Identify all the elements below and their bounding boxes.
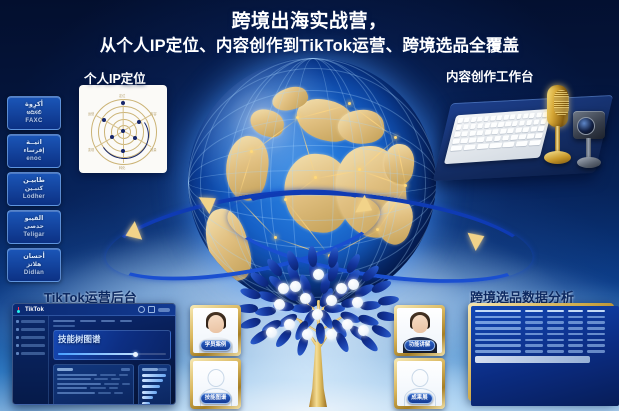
- table-cell-name: [475, 333, 521, 335]
- keyboard-key[interactable]: [512, 121, 519, 127]
- table-cell-sales: [547, 350, 564, 352]
- tree-blossom: [326, 295, 337, 306]
- avatar-card-skill-map[interactable]: 技能图谱: [190, 358, 241, 409]
- dashboard-tab[interactable]: [53, 320, 75, 322]
- section-title-ip-positioning: 个人IP定位: [84, 68, 146, 87]
- tree-blossom: [352, 297, 363, 308]
- table-cell-growth: [568, 316, 583, 318]
- radar-axis-label: 运营: [88, 111, 94, 116]
- keyboard-key[interactable]: [463, 144, 476, 150]
- table-column-header: [568, 310, 583, 312]
- hero-title: 技能树图谱: [58, 334, 166, 344]
- keyboard-key[interactable]: [530, 126, 537, 132]
- tree-blossom: [313, 269, 324, 280]
- sidebar-item-label: [21, 352, 45, 355]
- keyboard-key[interactable]: [461, 131, 468, 137]
- camera-body: [573, 111, 605, 139]
- table-row: [57, 374, 130, 376]
- bar-chart-bar: [142, 385, 160, 388]
- keyboard-key[interactable]: [522, 127, 529, 133]
- keyboard-key[interactable]: [464, 117, 470, 123]
- content-studio-scene: [443, 85, 619, 193]
- keyboard-key[interactable]: [529, 113, 535, 119]
- keyboard-key[interactable]: [507, 128, 514, 134]
- section-title-content-studio: 内容创作工作台: [446, 66, 534, 85]
- table-cell-margin: [587, 321, 605, 323]
- tree-trunk: [309, 342, 327, 407]
- keyboard-key[interactable]: [502, 135, 510, 141]
- keyboard-key[interactable]: [460, 138, 468, 144]
- poster-canvas: 跨境出海实战营， 从个人IP定位、内容创作到TikTok运营、跨境选品全覆盖 个…: [0, 0, 619, 411]
- card-header: [57, 368, 130, 370]
- table-cell-cat: [525, 333, 543, 335]
- keyboard-key[interactable]: [527, 133, 535, 139]
- table-column-header: [525, 310, 543, 312]
- table-cell-cat: [525, 339, 543, 341]
- language-badge[interactable]: أحسانهلاتزDidlan: [7, 248, 61, 282]
- dashboard-tab[interactable]: [120, 320, 132, 322]
- sidebar-item-icon: [16, 320, 19, 323]
- table-cell-margin: [587, 333, 605, 335]
- card-action-placeholder[interactable]: [158, 368, 167, 370]
- data-analysis-panel[interactable]: [468, 303, 614, 401]
- mic-body: [547, 85, 568, 127]
- table-cell-sales: [547, 344, 564, 346]
- badge-line-2: هلاتز: [27, 261, 42, 269]
- table-cell: [57, 392, 95, 394]
- table-row: [57, 392, 130, 394]
- keyboard-key[interactable]: [470, 124, 477, 130]
- badge-line-2: حدصى: [24, 223, 44, 231]
- table-row: [57, 383, 130, 385]
- keyboard-key[interactable]: [489, 142, 502, 148]
- sidebar-item-label: [21, 344, 45, 347]
- table-cell-growth: [568, 350, 583, 352]
- language-badge[interactable]: اثيــةإفرساءenoc: [7, 134, 61, 168]
- table-column-header: [547, 310, 564, 312]
- mic-grill: [554, 90, 569, 116]
- avatar: 成果展: [397, 361, 442, 406]
- table-cell-growth: [568, 327, 583, 329]
- sidebar-item-label: [21, 336, 45, 339]
- radar-axis-label: 内容: [150, 111, 156, 116]
- tree-blossom: [348, 279, 359, 290]
- table-cell-name: [475, 344, 521, 346]
- table-cell-cat: [525, 327, 543, 329]
- sidebar-item[interactable]: [16, 336, 45, 339]
- bar-chart-bar: [142, 396, 153, 399]
- badge-line-2: إفرساء: [24, 147, 45, 155]
- keyboard-key[interactable]: [469, 130, 476, 136]
- dashboard-tab[interactable]: [101, 320, 115, 322]
- progress-bar[interactable]: [58, 353, 166, 355]
- sidebar-item-label: [21, 320, 45, 323]
- tree-leaf: [274, 327, 294, 349]
- breadcrumb: [53, 325, 75, 327]
- camera-base: [577, 157, 601, 168]
- table-cell: [94, 378, 108, 380]
- table-cell: [119, 374, 128, 376]
- avatar-card-label: 技能图谱: [200, 393, 232, 404]
- dashboard-cards: [53, 364, 171, 405]
- bar-chart-bar: [142, 402, 150, 405]
- keyboard-key[interactable]: [491, 122, 498, 128]
- keyboard-key[interactable]: [476, 143, 489, 149]
- table-cell-growth: [568, 344, 583, 346]
- language-badge-strip: أكرِوةಅದಿಸಲಿFAXCاثيــةإفرساءenocطابيـنكت…: [7, 96, 61, 286]
- table-row[interactable]: [475, 316, 615, 318]
- keyboard-key[interactable]: [477, 130, 484, 136]
- avatar-silhouette-head: [411, 369, 428, 387]
- keyboard-key[interactable]: [519, 120, 526, 126]
- keyboard-key[interactable]: [505, 121, 512, 127]
- avatar-silhouette-head: [207, 369, 224, 387]
- table-row[interactable]: [475, 350, 615, 352]
- keyboard-key[interactable]: [516, 114, 522, 120]
- music-note-icon: [18, 307, 23, 312]
- avatar: 技能图谱: [193, 361, 238, 406]
- data-table: [471, 306, 619, 406]
- keyboard-key[interactable]: [498, 122, 505, 128]
- keyboard-key[interactable]: [515, 140, 528, 146]
- keyboard-key[interactable]: [510, 134, 518, 140]
- keyboard-key[interactable]: [523, 113, 529, 119]
- table-cell: [111, 378, 120, 380]
- keyboard-key[interactable]: [493, 135, 501, 141]
- tiktok-dashboard-panel[interactable]: TikTok 技能树图谱: [12, 303, 176, 405]
- table-cell-growth: [568, 333, 583, 335]
- avatar-face: [208, 315, 224, 333]
- keyboard-key[interactable]: [496, 115, 502, 121]
- table-cell: [57, 378, 91, 380]
- tree-blossom: [266, 327, 277, 338]
- table-row[interactable]: [475, 321, 615, 323]
- table-cell-margin: [587, 350, 605, 352]
- radar-axis-label: 定位: [119, 93, 125, 98]
- table-footer-strip: [475, 356, 590, 363]
- keyboard-key[interactable]: [536, 112, 542, 118]
- dashboard-sidebar[interactable]: [13, 316, 49, 405]
- table-cell-growth: [568, 321, 583, 323]
- tree-leaf: [370, 278, 393, 295]
- keyboard-key[interactable]: [477, 116, 483, 122]
- table-cell-growth: [568, 339, 583, 341]
- avatar-face: [412, 315, 428, 333]
- table-cell-margin: [587, 344, 605, 346]
- keyboard-key[interactable]: [463, 124, 470, 130]
- sidebar-item[interactable]: [16, 344, 45, 347]
- tree-leaf: [239, 286, 262, 301]
- tree-blossom: [312, 309, 323, 320]
- badge-line-1: طابيـن: [23, 177, 45, 185]
- badge-line-1: أحسان: [23, 253, 45, 261]
- table-cell: [98, 392, 111, 394]
- table-cell: [109, 387, 118, 389]
- badge-line-3: FAXC: [25, 117, 42, 125]
- card-action-placeholder[interactable]: [121, 368, 130, 370]
- tree-blossom: [326, 329, 337, 340]
- table-cell: [100, 374, 116, 376]
- table-column-header: [587, 310, 605, 312]
- avatar-card-label: 功能讲解: [404, 340, 436, 351]
- camera-icon: [573, 111, 606, 173]
- tiktok-logo: TikTok: [18, 307, 44, 313]
- sidebar-item-icon: [16, 352, 19, 355]
- table-cell: [122, 383, 130, 385]
- tree-blossom: [336, 283, 347, 294]
- mic-stem: [555, 126, 560, 154]
- dashboard-topbar: TikTok: [13, 304, 175, 316]
- card-title-placeholder: [57, 368, 73, 370]
- badge-line-1: اثيــة: [26, 139, 42, 147]
- sidebar-item[interactable]: [16, 328, 45, 331]
- keyboard-key[interactable]: [483, 116, 489, 122]
- poster-title-block: 跨境出海实战营， 从个人IP定位、内容创作到TikTok运营、跨境选品全覆盖: [0, 9, 619, 58]
- keyboard-key[interactable]: [485, 136, 493, 142]
- mic-base: [544, 151, 571, 164]
- bar-chart-bar: [142, 374, 166, 377]
- tree-blossom: [302, 329, 313, 340]
- avatar-card-student-case[interactable]: 学员案例: [190, 305, 241, 356]
- dashboard-tab[interactable]: [80, 320, 96, 322]
- microphone-icon: [543, 85, 571, 171]
- keyboard-key[interactable]: [484, 123, 491, 129]
- sidebar-item-icon: [16, 328, 19, 331]
- title-line-2: 从个人IP定位、内容创作到TikTok运营、跨境选品全覆盖: [0, 34, 619, 58]
- avatar-card-label: 成果展: [406, 393, 432, 404]
- table-cell-margin: [587, 339, 605, 341]
- table-cell: [90, 387, 106, 389]
- table-cell-cat: [525, 316, 543, 318]
- keyboard-key[interactable]: [499, 128, 506, 134]
- keyboard-key[interactable]: [457, 118, 463, 124]
- tree-blossom: [284, 319, 295, 330]
- table-cell: [57, 387, 87, 389]
- keyboard-key[interactable]: [492, 129, 499, 135]
- keyboard-icon: [444, 109, 552, 164]
- keyboard-key[interactable]: [484, 129, 491, 135]
- radar-axis-label: 转化: [119, 165, 125, 170]
- language-badge[interactable]: طابيـنكتبـينLodher: [7, 172, 61, 206]
- table-row: [57, 387, 130, 389]
- keyboard-key[interactable]: [455, 125, 462, 131]
- tree-leaf: [248, 269, 270, 288]
- dashboard-list-card: [53, 364, 134, 405]
- tree-icon: [243, 268, 393, 411]
- keyboard-key[interactable]: [477, 137, 485, 143]
- table-row[interactable]: [475, 333, 615, 335]
- table-cell-sales: [547, 327, 564, 329]
- keyboard-key[interactable]: [535, 133, 543, 139]
- dashboard-body: 技能树图谱: [13, 316, 175, 405]
- account-chip[interactable]: [158, 308, 170, 312]
- badge-line-3: Didlan: [24, 269, 44, 277]
- progress-knob[interactable]: [133, 352, 138, 357]
- keyboard-key[interactable]: [529, 139, 542, 145]
- keyboard-key[interactable]: [526, 120, 533, 126]
- sidebar-item-label: [21, 328, 45, 331]
- bar-chart: [142, 374, 167, 405]
- table-cell-cat: [525, 344, 543, 346]
- search-icon[interactable]: [138, 306, 145, 313]
- language-badge[interactable]: أكرِوةಅದಿಸಲಿFAXC: [7, 96, 61, 130]
- tree-leaf: [359, 333, 380, 354]
- table-cell-name: [475, 339, 521, 341]
- badge-line-3: Lodher: [23, 193, 45, 201]
- tree-blossom: [290, 281, 301, 292]
- avatar-card-label: 学员案例: [200, 340, 232, 351]
- table-cell-name: [475, 316, 521, 318]
- table-cell-sales: [547, 339, 564, 341]
- table-cell-sales: [547, 321, 564, 323]
- progress-fill: [58, 353, 136, 355]
- language-badge[interactable]: القيبوحدصىTeligar: [7, 210, 61, 244]
- table-header-row: [475, 310, 615, 312]
- table-column-header: [475, 310, 521, 312]
- card-list-rows: [57, 374, 130, 394]
- keyboard-key[interactable]: [502, 141, 515, 147]
- table-cell: [114, 392, 123, 394]
- radar-axis-label: 变现: [88, 147, 94, 152]
- table-cell-margin: [587, 327, 605, 329]
- sidebar-item-icon: [16, 344, 19, 347]
- tree-leaf: [370, 323, 393, 340]
- badge-line-2: كتبـين: [25, 185, 43, 193]
- tree-blossom: [274, 299, 285, 310]
- table-cell-name: [475, 321, 521, 323]
- table-cell-cat: [525, 321, 543, 323]
- tree-blossom: [342, 319, 353, 330]
- table-cell-sales: [547, 316, 564, 318]
- avatar-card-results[interactable]: 成果展: [394, 358, 445, 409]
- keyboard-key[interactable]: [533, 119, 540, 125]
- keyboard-key[interactable]: [515, 127, 522, 133]
- topbar-actions: [138, 306, 170, 313]
- camera-lens: [577, 117, 595, 135]
- badge-line-3: enoc: [26, 155, 41, 163]
- dashboard-main: 技能树图谱: [49, 316, 175, 405]
- table-cell: [57, 383, 101, 385]
- table-row[interactable]: [475, 344, 615, 346]
- tree-blossom: [278, 283, 289, 294]
- table-row[interactable]: [475, 339, 615, 341]
- keyboard-key[interactable]: [450, 145, 463, 151]
- dashboard-hero-card: 技能树图谱: [53, 330, 171, 360]
- avatar: 学员案例: [193, 308, 238, 353]
- card-header: [142, 368, 167, 370]
- keyboard-key[interactable]: [454, 131, 461, 137]
- keyboard-key[interactable]: [452, 138, 460, 144]
- keyboard-key[interactable]: [518, 134, 526, 140]
- sidebar-item[interactable]: [16, 352, 45, 355]
- table-cell-name: [475, 327, 521, 329]
- card-title-placeholder: [142, 368, 158, 370]
- table-cell: [104, 383, 119, 385]
- bar-chart-bar: [142, 379, 163, 382]
- avatar-card-feature-intro[interactable]: 功能讲解: [394, 305, 445, 356]
- radar-axis-label: 流量: [150, 147, 156, 152]
- keyboard-key[interactable]: [510, 114, 516, 120]
- tree-blossom: [358, 325, 369, 336]
- dashboard-tabs[interactable]: [53, 320, 171, 322]
- table-cell-cat: [525, 350, 543, 352]
- bar-chart-bar: [142, 391, 157, 394]
- table-cell-name: [475, 350, 521, 352]
- dashboard-bar-chart-card: [138, 364, 171, 405]
- table-row: [57, 378, 130, 380]
- badge-line-2: ಅದಿಸಲಿ: [27, 109, 42, 117]
- table-cell: [57, 374, 97, 376]
- badge-line-3: Teligar: [23, 231, 44, 239]
- sidebar-item[interactable]: [16, 320, 45, 323]
- keyboard-key[interactable]: [477, 123, 484, 129]
- badge-line-1: القيبو: [25, 215, 44, 223]
- keyboard-key[interactable]: [469, 137, 477, 143]
- sidebar-item-icon: [16, 336, 19, 339]
- title-line-1: 跨境出海实战营，: [0, 9, 619, 34]
- keyboard-key[interactable]: [503, 115, 509, 121]
- keyboard-key[interactable]: [470, 117, 476, 123]
- badge-line-1: أكرِوة: [25, 101, 43, 109]
- tiktok-brand-label: TikTok: [25, 307, 44, 313]
- table-cell-margin: [587, 316, 605, 318]
- tree-leaf: [239, 316, 262, 331]
- table-rows: [475, 316, 615, 353]
- gear-icon[interactable]: [148, 306, 155, 313]
- tree-blossom: [300, 293, 311, 304]
- table-cell-sales: [547, 333, 564, 335]
- table-row[interactable]: [475, 327, 615, 329]
- avatar: 功能讲解: [397, 308, 442, 353]
- ip-positioning-radar-card: 定位内容流量转化变现运营: [79, 85, 167, 173]
- keyboard-key[interactable]: [490, 116, 496, 122]
